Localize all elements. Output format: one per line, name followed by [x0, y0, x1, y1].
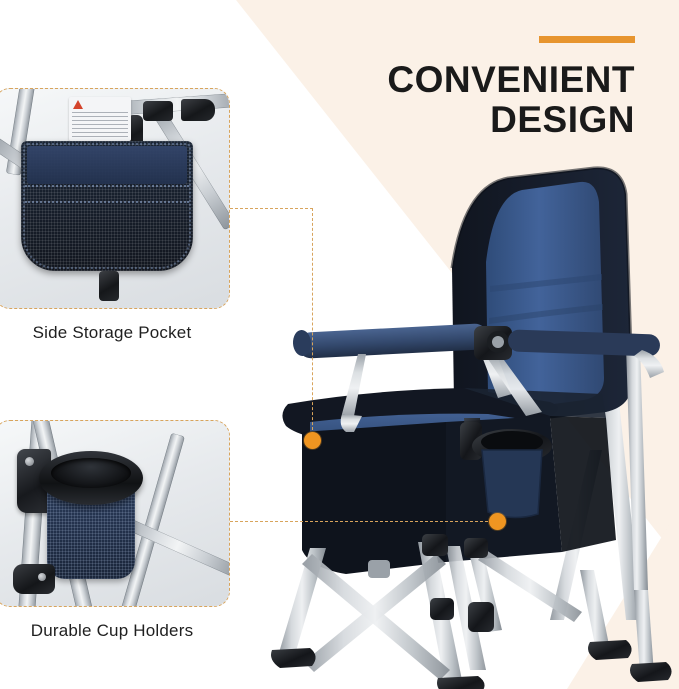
product-image-folding-camping-chair [250, 150, 679, 689]
frame-lower-clamp [99, 271, 119, 301]
page-title-line-2: DESIGN [387, 102, 635, 138]
warning-triangle-icon [73, 100, 83, 109]
page-title-line-1: CONVENIENT [387, 62, 635, 98]
callout-cupholder-caption: Durable Cup Holders [0, 621, 230, 641]
callout-side-storage-pocket: Side Storage Pocket [0, 88, 230, 343]
label-text-lines [72, 112, 128, 138]
pocket-stitched-rim [23, 143, 191, 269]
side-storage-pocket [21, 141, 193, 271]
callout-pocket-photo-frame [0, 88, 230, 309]
cup-holder-ring [39, 451, 143, 505]
callout-cupholder-photo-frame [0, 420, 230, 607]
pocket-scene [0, 89, 229, 308]
frame-end-cap-mid [143, 101, 173, 121]
leader-marker-pocket [304, 432, 321, 449]
leader-marker-cupholder [489, 513, 506, 530]
leader-line-cupholder-horizontal [230, 521, 498, 522]
infographic-canvas: CONVENIENT DESIGN [0, 0, 679, 689]
leader-line-pocket-horizontal [230, 208, 313, 209]
spec-label [69, 97, 131, 141]
bracket-screw-icon [25, 457, 34, 466]
foot-clamp-screw-icon [38, 573, 46, 581]
leader-line-pocket-vertical [312, 208, 313, 440]
accent-bar [539, 36, 635, 43]
callout-pocket-caption: Side Storage Pocket [0, 323, 230, 343]
frame-end-cap-right [181, 99, 215, 121]
frame-foot-clamp [13, 564, 55, 594]
callout-durable-cup-holders: Durable Cup Holders [0, 420, 230, 641]
heading-block: CONVENIENT DESIGN [387, 36, 635, 138]
chair-armrest-pivot [474, 326, 512, 360]
cupholder-scene [0, 421, 229, 606]
chair-backrest [452, 168, 632, 426]
